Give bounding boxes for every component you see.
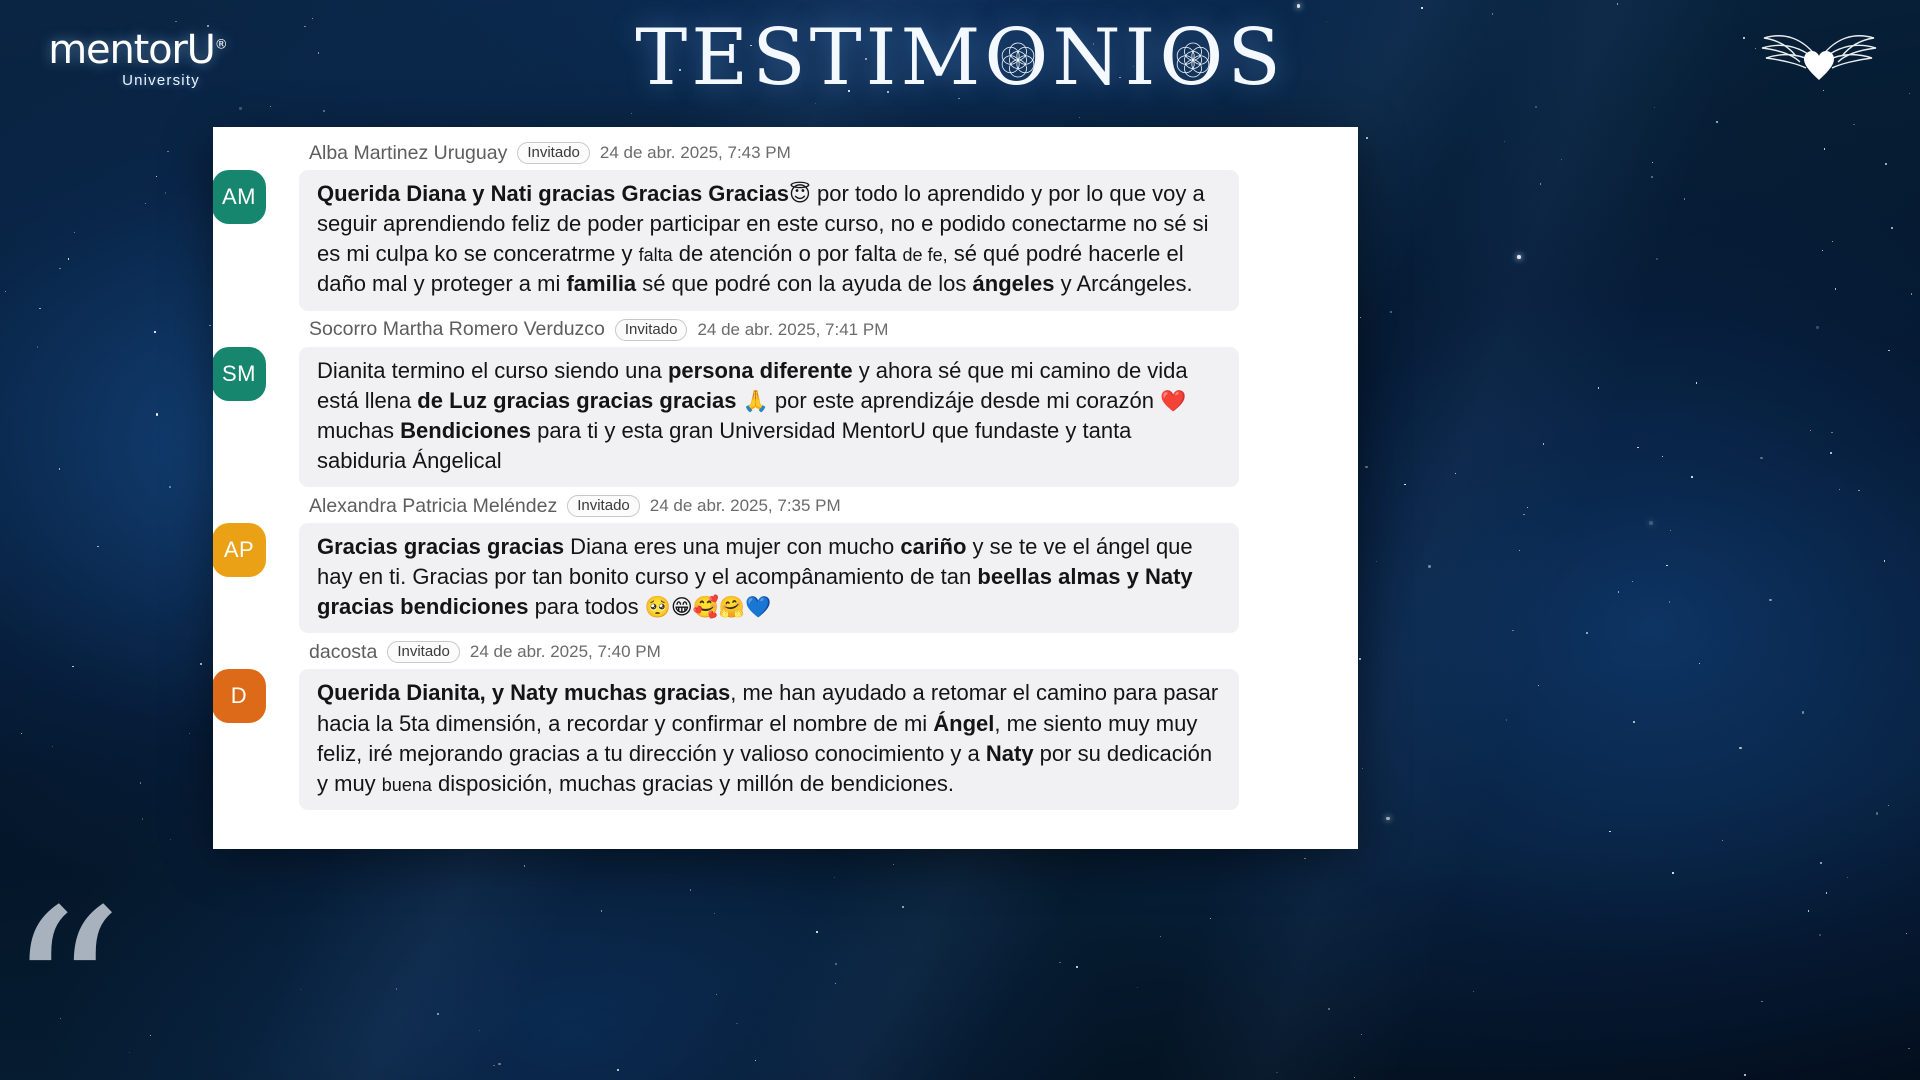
flower-of-life-icon bbox=[993, 35, 1043, 85]
message-author: Alexandra Patricia Meléndez bbox=[309, 495, 557, 518]
message-timestamp: 24 de abr. 2025, 7:40 PM bbox=[470, 642, 661, 662]
avatar: SM bbox=[213, 347, 266, 401]
message-author: Socorro Martha Romero Verduzco bbox=[309, 318, 605, 341]
angel-wings-heart-icon bbox=[1754, 20, 1884, 90]
message-timestamp: 24 de abr. 2025, 7:35 PM bbox=[650, 496, 841, 516]
guest-badge: Invitado bbox=[615, 319, 688, 341]
message-header: Socorro Martha Romero VerduzcoInvitado24… bbox=[299, 317, 1299, 347]
page-title-text: TESTIMONIOS bbox=[635, 13, 1285, 103]
guest-badge: Invitado bbox=[567, 495, 640, 517]
decorative-quote-mark: “ bbox=[6, 925, 124, 1068]
emoji: ❤️ bbox=[1160, 389, 1186, 413]
message-item: AMAlba Martinez UruguayInvitado24 de abr… bbox=[299, 140, 1299, 311]
title-letter-o: O bbox=[984, 14, 1052, 104]
message-item: DdacostaInvitado24 de abr. 2025, 7:40 PM… bbox=[299, 639, 1299, 810]
avatar: D bbox=[213, 669, 266, 723]
guest-badge: Invitado bbox=[387, 641, 460, 663]
message-timestamp: 24 de abr. 2025, 7:43 PM bbox=[600, 143, 791, 163]
message-timestamp: 24 de abr. 2025, 7:41 PM bbox=[697, 320, 888, 340]
testimonials-card: AMAlba Martinez UruguayInvitado24 de abr… bbox=[213, 127, 1358, 849]
page-title: TESTIMONIOS bbox=[0, 14, 1920, 104]
flower-of-life-icon bbox=[1168, 35, 1218, 85]
avatar: AP bbox=[213, 523, 266, 577]
title-letter-o: O bbox=[1159, 14, 1227, 104]
message-item: APAlexandra Patricia MeléndezInvitado24 … bbox=[299, 493, 1299, 633]
message-bubble: Gracias gracias gracias Diana eres una m… bbox=[299, 523, 1239, 633]
message-header: Alexandra Patricia MeléndezInvitado24 de… bbox=[299, 493, 1299, 523]
message-header: Alba Martinez UruguayInvitado24 de abr. … bbox=[299, 140, 1299, 170]
message-bubble: Dianita termino el curso siendo una pers… bbox=[299, 347, 1239, 488]
avatar: AM bbox=[213, 170, 266, 224]
message-bubble: Querida Diana y Nati gracias Gracias Gra… bbox=[299, 170, 1239, 311]
message-author: Alba Martinez Uruguay bbox=[309, 142, 507, 165]
message-item: SMSocorro Martha Romero VerduzcoInvitado… bbox=[299, 317, 1299, 488]
emoji: 🥺😁🥰🤗💙 bbox=[645, 595, 771, 619]
page-header: mentorU® University TESTIMONIOS bbox=[0, 0, 1920, 120]
guest-badge: Invitado bbox=[517, 142, 590, 164]
message-list: AMAlba Martinez UruguayInvitado24 de abr… bbox=[299, 140, 1299, 816]
message-header: dacostaInvitado24 de abr. 2025, 7:40 PM bbox=[299, 639, 1299, 669]
message-bubble: Querida Dianita, y Naty muchas gracias, … bbox=[299, 669, 1239, 810]
emoji: 😇 bbox=[789, 182, 811, 206]
message-author: dacosta bbox=[309, 641, 377, 664]
emoji: 🙏 bbox=[743, 389, 769, 413]
